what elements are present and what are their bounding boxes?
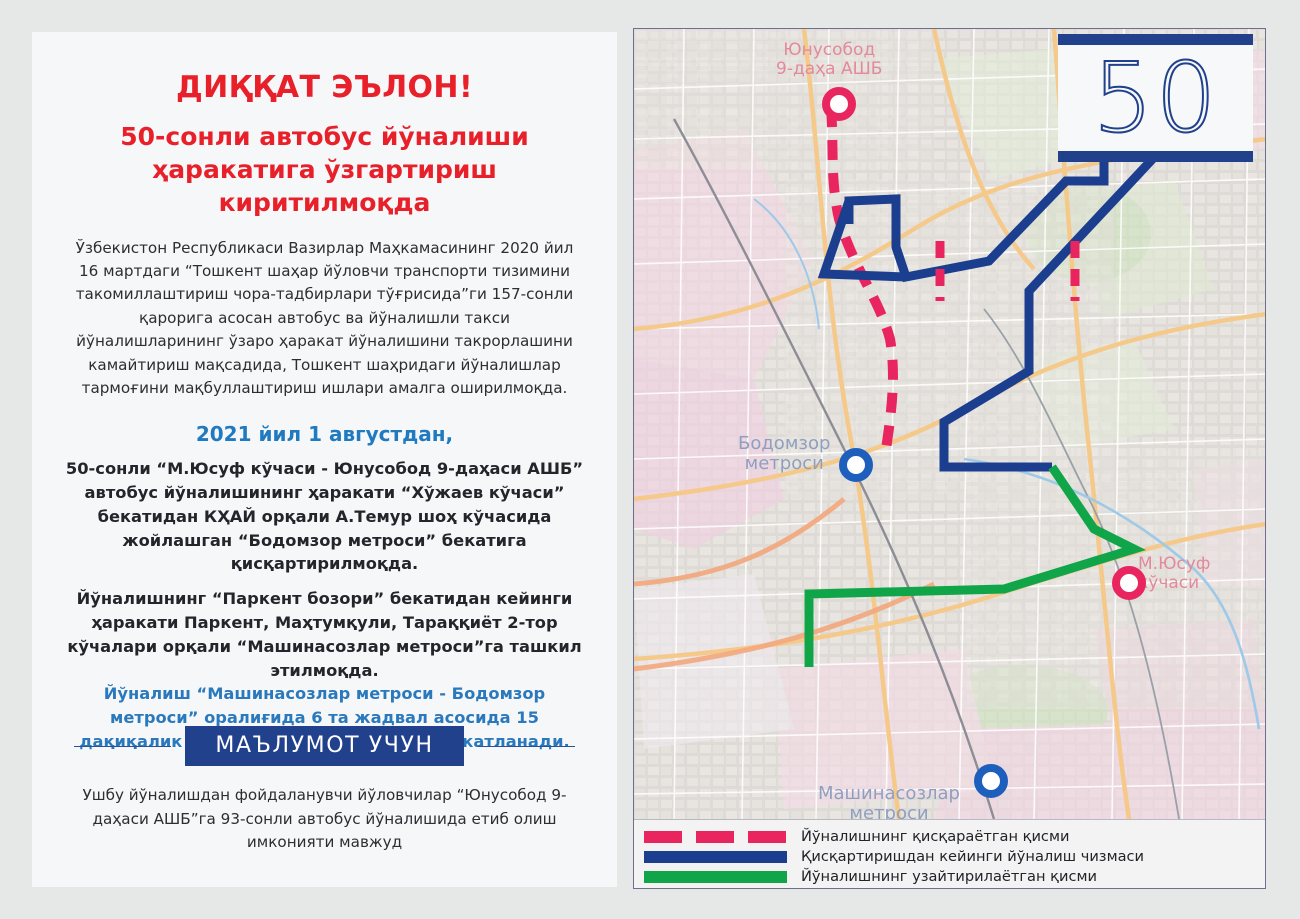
- intro-paragraph: Ўзбекистон Республикаси Вазирлар Маҳкама…: [74, 237, 575, 401]
- page-title: ДИҚҚАТ ЭЪЛОН!: [60, 71, 589, 106]
- info-banner-label: МАЪЛУМОТ УЧУН: [185, 726, 463, 766]
- legend-swatch-main: [644, 851, 787, 863]
- stop-marker-yunusobod[interactable]: [822, 87, 856, 121]
- legend-row-extension: Йўналишнинг узайтирилаётган қисми: [644, 867, 1265, 886]
- route-change-paragraph-2: Йўналишнинг “Паркент бозори” бекатидан к…: [60, 587, 589, 682]
- legend-swatch-extension: [644, 871, 787, 883]
- footnote-paragraph: Ушбу йўналишдан фойдаланувчи йўловчилар …: [78, 784, 571, 855]
- subtitle: 50-сонли автобус йўналиши ҳаракатига ўзг…: [82, 120, 567, 219]
- subtitle-line-2: ҳаракатига ўзгартириш: [82, 153, 567, 186]
- legend-row-main: Қисқартиришдан кейинги йўналиш чизмаси: [644, 847, 1265, 866]
- stop-marker-myusuf[interactable]: [1112, 566, 1146, 600]
- legend-row-shortened: Йўналишнинг қисқараётган қисми: [644, 827, 1265, 846]
- map-canvas[interactable]: 50 Юнусобод 9-даҳа АШБ Бодомзор метроси …: [634, 29, 1265, 819]
- legend-label-shortened: Йўналишнинг қисқараётган қисми: [801, 828, 1069, 845]
- divider-left: [74, 746, 171, 747]
- stop-marker-bodomzor[interactable]: [839, 448, 873, 482]
- subtitle-line-3: киритилмоқда: [82, 186, 567, 219]
- legend-label-extension: Йўналишнинг узайтирилаётган қисми: [801, 868, 1097, 885]
- route-number-badge: 50: [1058, 34, 1253, 162]
- info-banner: МАЪЛУМОТ УЧУН: [60, 726, 589, 766]
- announcement-card: ДИҚҚАТ ЭЪЛОН! 50-сонли автобус йўналиши …: [32, 32, 617, 887]
- stop-marker-mashinasozlar[interactable]: [974, 764, 1008, 798]
- legend-swatch-shortened: [644, 831, 787, 843]
- route-map-panel[interactable]: 50 Юнусобод 9-даҳа АШБ Бодомзор метроси …: [633, 28, 1266, 889]
- route-number: 50: [1092, 50, 1218, 146]
- map-legend: Йўналишнинг қисқараётган қисми Қисқартир…: [634, 819, 1265, 888]
- legend-label-main: Қисқартиришдан кейинги йўналиш чизмаси: [801, 848, 1144, 865]
- divider-right: [478, 746, 575, 747]
- effective-date-heading: 2021 йил 1 августдан,: [60, 422, 589, 446]
- subtitle-line-1: 50-сонли автобус йўналиши: [82, 120, 567, 153]
- route-change-paragraph-1: 50-сонли “М.Юсуф кўчаси - Юнусобод 9-даҳ…: [60, 457, 589, 576]
- poster-page: ДИҚҚАТ ЭЪЛОН! 50-сонли автобус йўналиши …: [0, 0, 1300, 919]
